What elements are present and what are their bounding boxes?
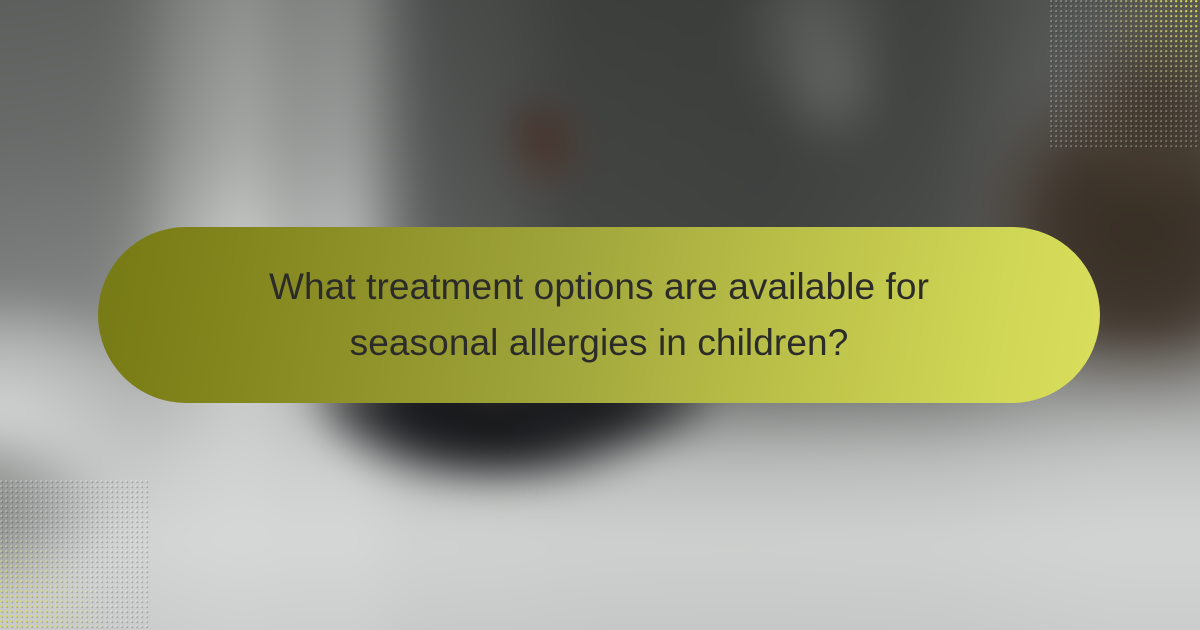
question-card-banner: What treatment options are available for… xyxy=(0,0,1200,630)
dot-grid-top-right-accent-icon xyxy=(1050,0,1200,150)
question-pill: What treatment options are available for… xyxy=(98,227,1100,403)
dot-grid-bottom-left-accent-icon xyxy=(0,480,150,630)
question-text: What treatment options are available for… xyxy=(269,259,929,371)
